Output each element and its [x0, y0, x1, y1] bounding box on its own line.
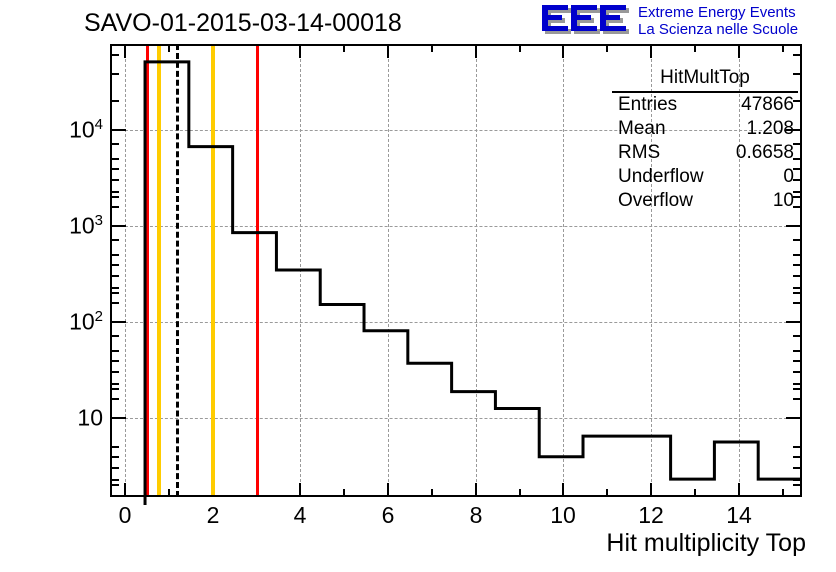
stats-row-rms: RMS 0.6658: [612, 141, 798, 165]
y-tick-label-1e3: 103: [69, 214, 103, 239]
x-tick-label-8: 8: [470, 503, 483, 528]
stats-row-overflow: Overflow 10: [612, 189, 798, 213]
x-axis-title: Hit multiplicity Top: [606, 528, 806, 558]
stats-label-underflow: Underflow: [618, 165, 704, 189]
x-tick-label-4: 4: [294, 503, 307, 528]
stats-row-entries: Entries 47866: [612, 93, 798, 117]
stats-label-mean: Mean: [618, 117, 666, 141]
x-tick-label-10: 10: [550, 503, 576, 528]
plot-canvas: SAVO-01-2015-03-14-00018: [0, 0, 836, 572]
stats-box: HitMultTop Entries 47866 Mean 1.208 RMS …: [612, 66, 798, 213]
stats-title: HitMultTop: [612, 66, 798, 93]
x-tick-label-2: 2: [207, 503, 220, 528]
stats-label-rms: RMS: [618, 141, 660, 165]
page-title: SAVO-01-2015-03-14-00018: [84, 8, 402, 38]
x-tick-label-6: 6: [382, 503, 395, 528]
x-tick-label-0: 0: [119, 503, 132, 528]
stats-value-underflow: 0: [783, 165, 794, 189]
stats-value-entries: 47866: [741, 93, 794, 117]
y-tick-label-1e4: 104: [69, 118, 103, 143]
x-tick-label-12: 12: [638, 503, 664, 528]
eee-logo: Extreme Energy Events La Scienza nelle S…: [540, 2, 836, 42]
eee-logo-text: Extreme Energy Events La Scienza nelle S…: [638, 4, 798, 38]
y-tick-label-1e2: 102: [69, 310, 103, 335]
stats-row-underflow: Underflow 0: [612, 165, 798, 189]
stats-value-overflow: 10: [773, 189, 794, 213]
stats-value-rms: 0.6658: [736, 141, 794, 165]
stats-value-mean: 1.208: [746, 117, 794, 141]
eee-logo-line1: Extreme Energy Events: [638, 4, 798, 21]
stats-label-overflow: Overflow: [618, 189, 693, 213]
stats-row-mean: Mean 1.208: [612, 117, 798, 141]
x-tick-label-14: 14: [726, 503, 752, 528]
stats-label-entries: Entries: [618, 93, 677, 117]
eee-logo-line2: La Scienza nelle Scuole: [638, 21, 798, 38]
eee-logo-mark: [540, 4, 632, 38]
y-tick-label-10: 10: [77, 406, 103, 431]
